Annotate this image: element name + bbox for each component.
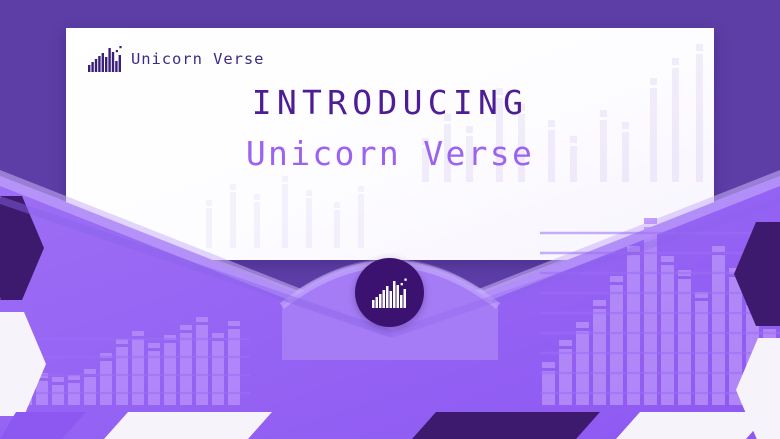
- promo-banner: Unicorn Verse INTRODUCING Unicorn Verse: [0, 0, 780, 439]
- center-logo-badge: [355, 258, 424, 327]
- edge-chevrons: [0, 0, 780, 439]
- equalizer-bars-logo-icon: [372, 278, 408, 308]
